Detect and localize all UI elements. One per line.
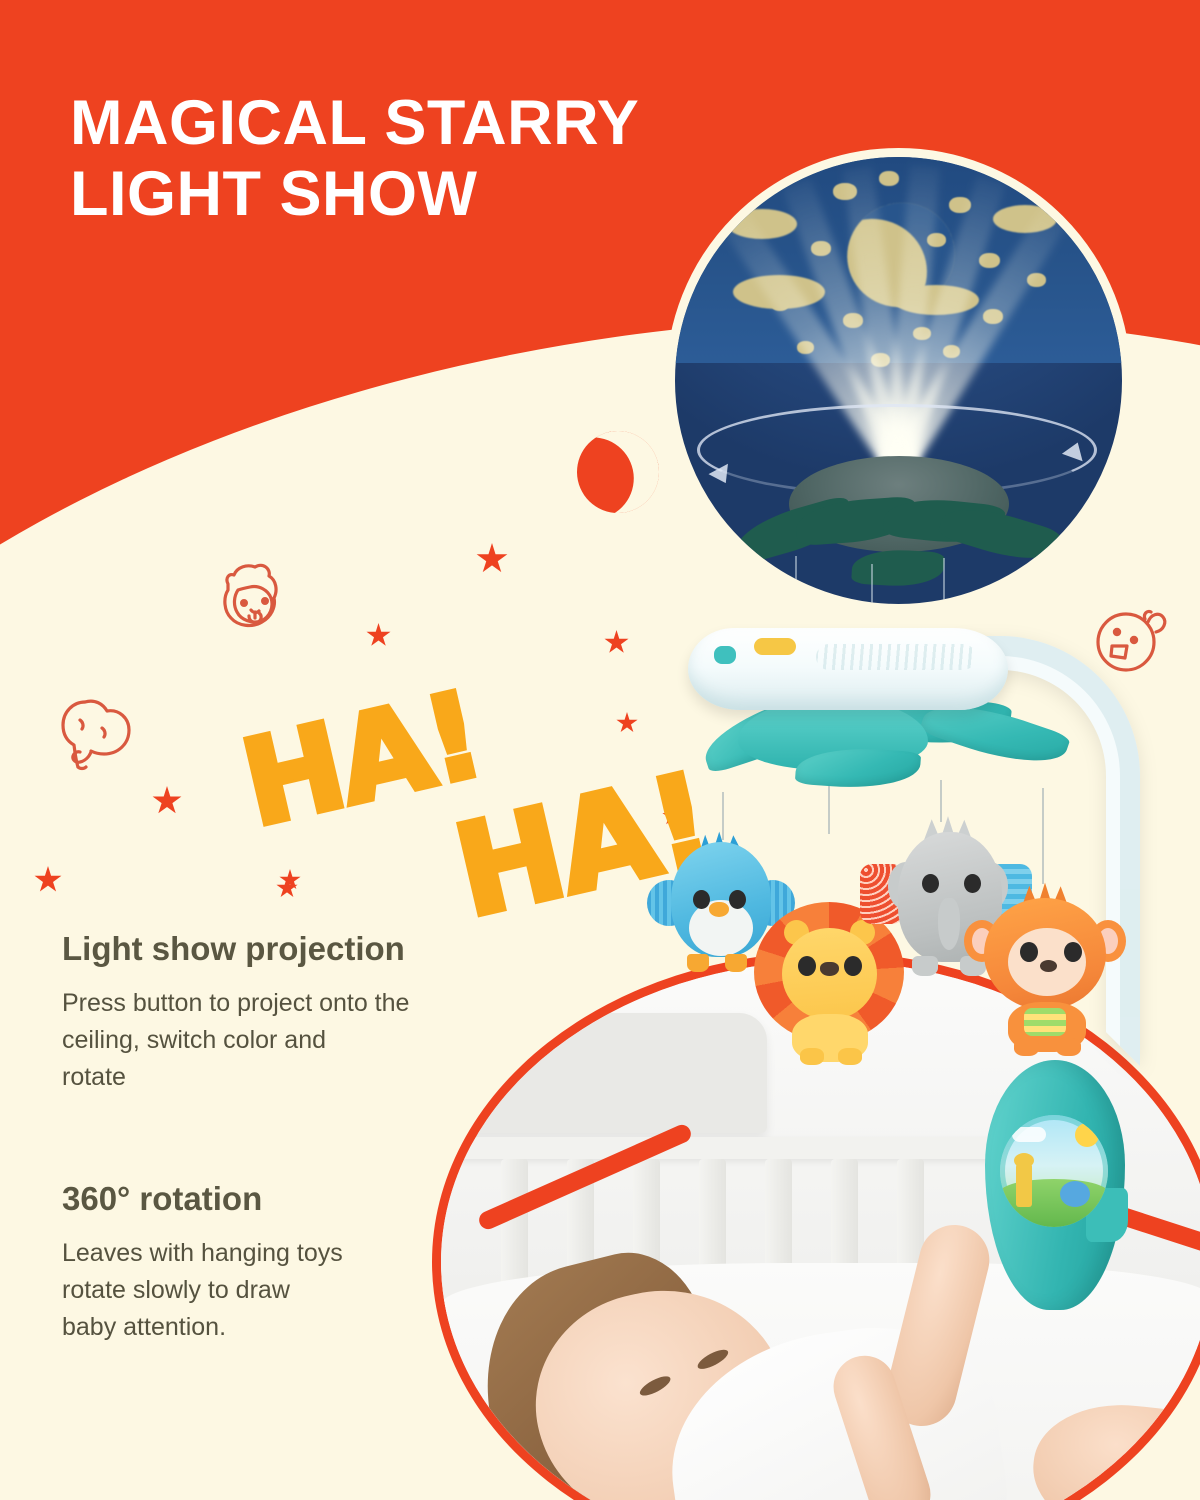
lion-paw [838, 1048, 862, 1065]
teal-accent [714, 646, 736, 664]
monkey-paw [1014, 1038, 1039, 1056]
monkey-nose [1040, 960, 1057, 972]
starry-projection-photo [666, 148, 1131, 613]
lion-nose [820, 962, 839, 976]
elephant-trunk [938, 898, 960, 950]
leaves-silhouette [734, 494, 1064, 604]
page-title: MAGICAL STARRY LIGHT SHOW [70, 88, 639, 229]
projected-star-icon [879, 171, 899, 186]
bird-foot [725, 954, 747, 972]
crib-headboard [467, 1013, 767, 1133]
feature-360-rotation: 360° rotation Leaves with hanging toys r… [62, 1180, 343, 1346]
lion-face-outline-icon [208, 560, 294, 651]
bird-beak [709, 902, 729, 917]
baby-eye [637, 1373, 673, 1400]
plush-monkey-toy [960, 876, 1130, 1058]
feature-light-show-projection: Light show projection Press button to pr… [62, 930, 409, 1096]
bird-foot [687, 954, 709, 972]
projector-housing [688, 628, 1008, 710]
chick-outline-icon [1090, 598, 1172, 683]
monkey-paw [1056, 1038, 1081, 1056]
bird-eye [729, 890, 746, 909]
elephant-foot [912, 956, 938, 976]
projection-scene [675, 157, 1122, 604]
bird-eye [693, 890, 710, 909]
elephant-eye [922, 874, 939, 893]
feature-body: Press button to project onto the ceiling… [62, 985, 409, 1096]
stem-picture-window [1000, 1115, 1108, 1227]
lion-paw [800, 1048, 824, 1065]
feature-title: Light show projection [62, 930, 409, 968]
monkey-eye [1020, 942, 1038, 962]
window-cloud-icon [1012, 1127, 1046, 1142]
poster-canvas: MAGICAL STARRY LIGHT SHOW [0, 0, 1200, 1500]
window-sun-icon [1075, 1123, 1099, 1147]
monkey-bib [1024, 1008, 1066, 1036]
lion-eye [798, 956, 816, 976]
speaker-grill [816, 644, 976, 670]
projection-button[interactable] [754, 638, 796, 655]
feature-title: 360° rotation [62, 1180, 343, 1218]
window-animal-icon [1060, 1181, 1090, 1207]
feature-body: Leaves with hanging toys rotate slowly t… [62, 1235, 343, 1346]
elephant-outline-icon [50, 692, 142, 781]
window-giraffe-icon [1016, 1161, 1032, 1207]
monkey-eye [1064, 942, 1082, 962]
baby-eye [695, 1346, 731, 1373]
